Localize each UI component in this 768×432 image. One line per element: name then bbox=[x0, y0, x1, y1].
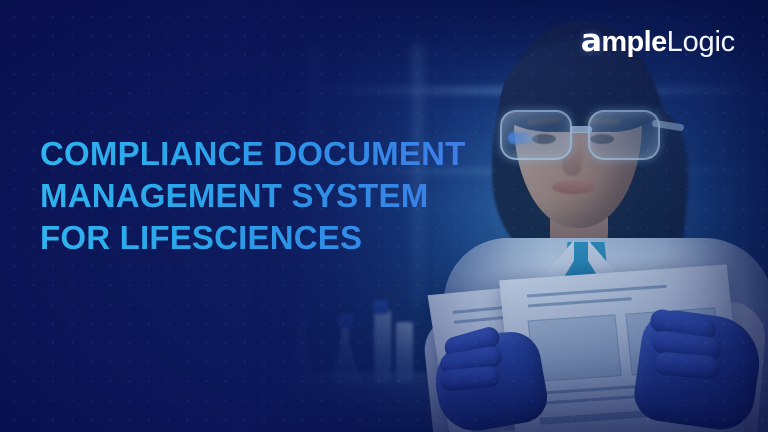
headline-line-3: FOR LIFESCIENCES bbox=[40, 217, 465, 259]
logo-a-mark: a bbox=[581, 26, 602, 57]
logo-name-bold: mple bbox=[601, 28, 666, 57]
logo-name-light: Logic bbox=[667, 28, 735, 57]
banner-hero: ampleLogic COMPLIANCE DOCUMENT MANAGEMEN… bbox=[0, 0, 768, 432]
brand-logo[interactable]: ampleLogic bbox=[581, 26, 735, 57]
headline-line-2: MANAGEMENT SYSTEM bbox=[40, 175, 465, 217]
page-title: COMPLIANCE DOCUMENT MANAGEMENT SYSTEM FO… bbox=[40, 133, 465, 259]
headline-line-1: COMPLIANCE DOCUMENT bbox=[40, 133, 465, 175]
